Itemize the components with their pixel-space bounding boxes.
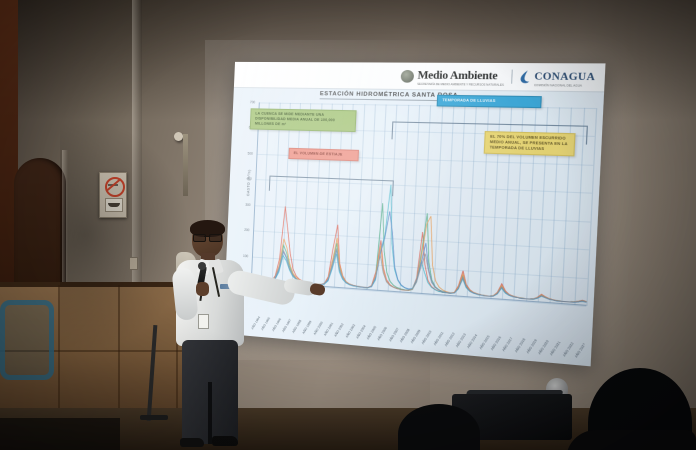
x-tick-label: AÑO 2017 xyxy=(501,336,514,352)
mexican-eagle-icon xyxy=(401,69,415,82)
presenter-shoe-left xyxy=(180,438,204,447)
audience-shoulder-right xyxy=(566,430,696,450)
trouser-gap xyxy=(208,382,212,444)
x-tick-label: AÑO 2021 xyxy=(549,340,562,356)
foreground-shadow xyxy=(0,418,120,450)
presenter-mic-hand xyxy=(196,282,209,296)
semarnat-brand: Medio Ambiente SECRETARÍA DE MEDIO AMBIE… xyxy=(401,65,505,88)
microphone-stand-base xyxy=(140,415,168,420)
x-tick-label: AÑO 2023 xyxy=(573,342,586,358)
screenshot-scene: Medio Ambiente SECRETARÍA DE MEDIO AMBIE… xyxy=(0,0,696,450)
glasses-icon xyxy=(193,234,222,240)
y-tick-label: 400 xyxy=(246,177,251,181)
x-tick-label: AÑO 1999 xyxy=(302,320,313,335)
callout-yellow: EL 70% DEL VOLUMEN ESCURRIDO MEDIO ANUAL… xyxy=(484,131,576,157)
header-divider xyxy=(511,70,513,84)
x-tick-label: AÑO 2007 xyxy=(388,327,400,342)
y-tick-label: 500 xyxy=(248,151,253,155)
callout-green: LA CUENCA SE MIDE MEDIANTE UNA DISPONIBI… xyxy=(250,108,357,132)
x-tick-label: AÑO 2010 xyxy=(421,330,433,346)
y-axis-label: GASTO (m³/s) xyxy=(246,170,251,197)
y-tick-label: 700 xyxy=(250,100,255,104)
presenter-shoe-right xyxy=(212,436,238,446)
id-badge xyxy=(198,314,209,329)
microphone-head-icon xyxy=(198,262,206,270)
conagua-droplet-icon xyxy=(519,70,532,84)
callout-red: EL VOLUMEN DE ESTIAJE xyxy=(288,148,359,162)
x-tick-label: AÑO 2014 xyxy=(466,333,478,349)
callout-blue: TEMPORADA DE LLUVIAS xyxy=(437,95,542,109)
agency-name: CONAGUA xyxy=(534,72,595,84)
x-tick-label: AÑO 2018 xyxy=(513,337,526,353)
conagua-brand: CONAGUA COMISIÓN NACIONAL DEL AGUA xyxy=(519,65,596,88)
brand-text: Medio Ambiente SECRETARÍA DE MEDIO AMBIE… xyxy=(417,65,505,88)
slide-header: Medio Ambiente SECRETARÍA DE MEDIO AMBIE… xyxy=(234,62,606,93)
x-tick-label: AÑO 2006 xyxy=(377,326,389,341)
agency-subtitle: COMISIÓN NACIONAL DEL AGUA xyxy=(534,85,595,89)
x-tick-label: AÑO 2019 xyxy=(525,338,538,354)
x-tick-label: AÑO 2011 xyxy=(432,331,444,346)
x-tick-label: AÑO 2002 xyxy=(333,322,344,337)
x-tick-label: AÑO 2022 xyxy=(561,341,574,357)
x-tick-label: AÑO 2015 xyxy=(478,334,490,350)
y-tick-label: 300 xyxy=(245,202,250,206)
presenter xyxy=(168,222,300,450)
stacked-chair xyxy=(0,300,54,380)
x-tick-label: AÑO 2003 xyxy=(344,323,356,338)
brand-name: Medio Ambiente xyxy=(417,70,498,82)
conagua-text: CONAGUA COMISIÓN NACIONAL DEL AGUA xyxy=(534,66,596,89)
brand-subtitle: SECRETARÍA DE MEDIO AMBIENTE Y RECURSOS … xyxy=(417,84,504,88)
